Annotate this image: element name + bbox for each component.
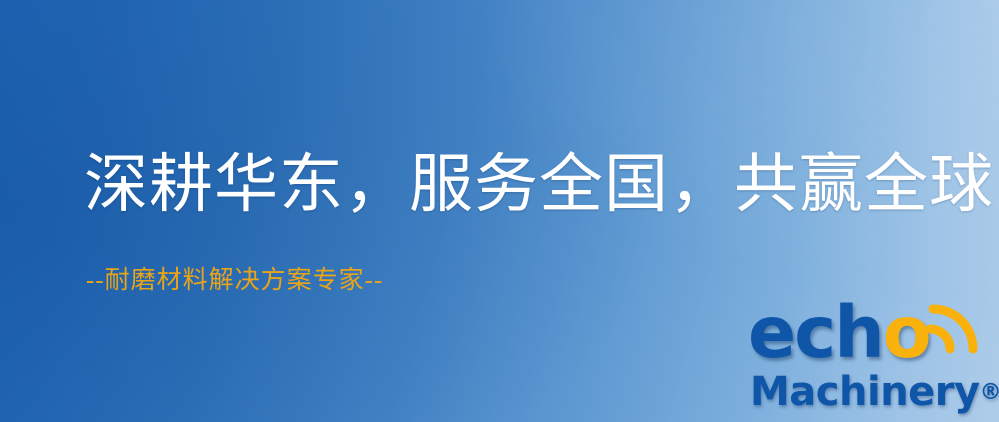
banner-subheadline: --耐磨材料解决方案专家-- (86, 268, 383, 293)
logo-wordmark-accent-o: o (883, 291, 930, 374)
signal-waves-icon (926, 293, 986, 355)
logo-mark: echo (744, 296, 994, 370)
registered-trademark-mark: ® (980, 380, 999, 405)
logo-wordmark: echo (748, 296, 930, 370)
logo-subword: Machinery® (750, 370, 999, 415)
banner-headline: 深耕华东，服务全国，共赢全球 (84, 153, 994, 217)
echo-machinery-logo[interactable]: echo Machinery® (744, 296, 994, 422)
hero-banner: 深耕华东，服务全国，共赢全球 --耐磨材料解决方案专家-- echo Machi… (0, 0, 999, 422)
logo-subword-text: Machinery (750, 369, 980, 415)
logo-wordmark-prefix: ech (748, 291, 883, 374)
